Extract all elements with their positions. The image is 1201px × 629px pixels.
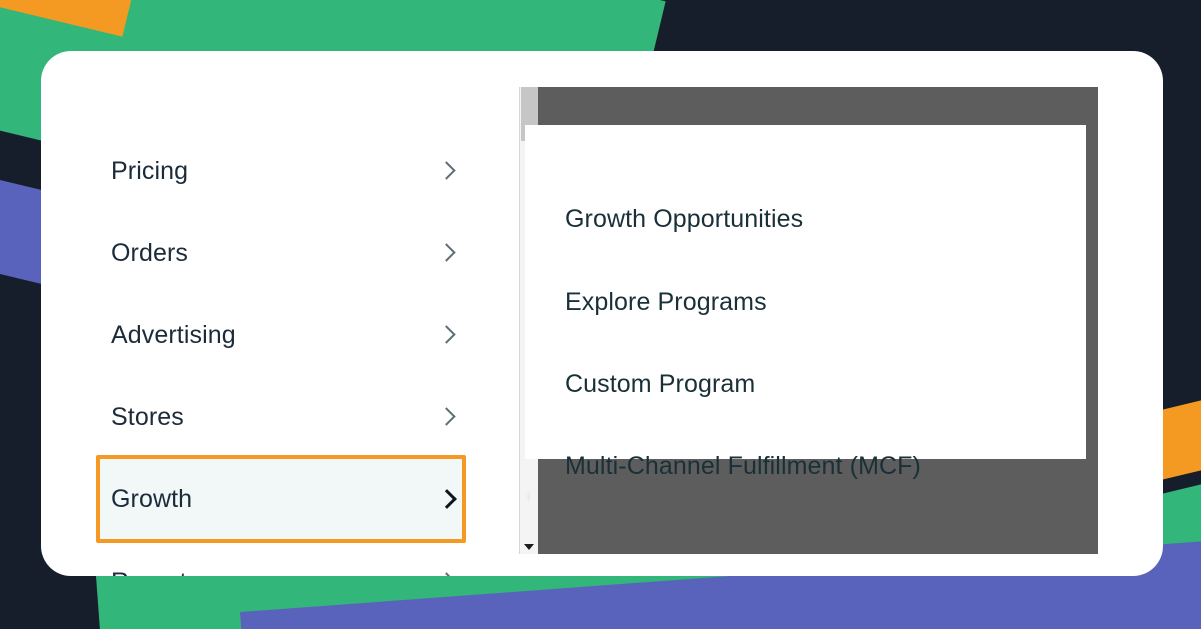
submenu-item-label: Growth Opportunities — [565, 207, 803, 232]
submenu-item-growth-opportunities[interactable]: Growth Opportunities — [565, 197, 803, 241]
nav-item-label: Orders — [111, 241, 188, 266]
chevron-right-icon — [439, 160, 452, 182]
chevron-right-icon — [439, 571, 452, 576]
nav-item-label: Advertising — [111, 323, 236, 348]
chevron-right-icon — [439, 488, 452, 510]
submenu-pointer-notch — [500, 468, 530, 526]
chevron-right-icon — [439, 242, 452, 264]
nav-item-orders[interactable]: Orders — [96, 225, 466, 281]
nav-item-advertising[interactable]: Advertising — [96, 307, 466, 363]
primary-nav-list: PricingOrdersAdvertisingStoresGrowthRepo… — [41, 51, 511, 576]
nav-item-pricing[interactable]: Pricing — [96, 143, 466, 199]
nav-item-reports[interactable]: Reports — [96, 554, 466, 576]
nav-item-label: Reports — [111, 570, 199, 577]
submenu-item-multi-channel-fulfillment-mcf[interactable]: Multi-Channel Fulfillment (MCF) — [565, 444, 921, 488]
caret-down-icon[interactable] — [524, 544, 534, 550]
nav-item-growth[interactable]: Growth — [96, 455, 466, 543]
submenu-item-explore-programs[interactable]: Explore Programs — [565, 280, 767, 324]
nav-item-label: Growth — [111, 487, 192, 512]
chevron-right-icon — [439, 324, 452, 346]
chevron-right-icon — [439, 406, 452, 428]
submenu-item-label: Multi-Channel Fulfillment (MCF) — [565, 454, 921, 479]
nav-item-label: Pricing — [111, 159, 188, 184]
submenu-item-label: Explore Programs — [565, 290, 767, 315]
menu-card: PricingOrdersAdvertisingStoresGrowthRepo… — [41, 51, 1163, 576]
nav-item-stores[interactable]: Stores — [96, 389, 466, 445]
growth-submenu-panel: Growth OpportunitiesExplore ProgramsCust… — [525, 125, 1086, 459]
screenshot-root: PricingOrdersAdvertisingStoresGrowthRepo… — [0, 0, 1201, 629]
submenu-item-custom-program[interactable]: Custom Program — [565, 362, 755, 406]
nav-item-label: Stores — [111, 405, 184, 430]
submenu-item-label: Custom Program — [565, 372, 755, 397]
